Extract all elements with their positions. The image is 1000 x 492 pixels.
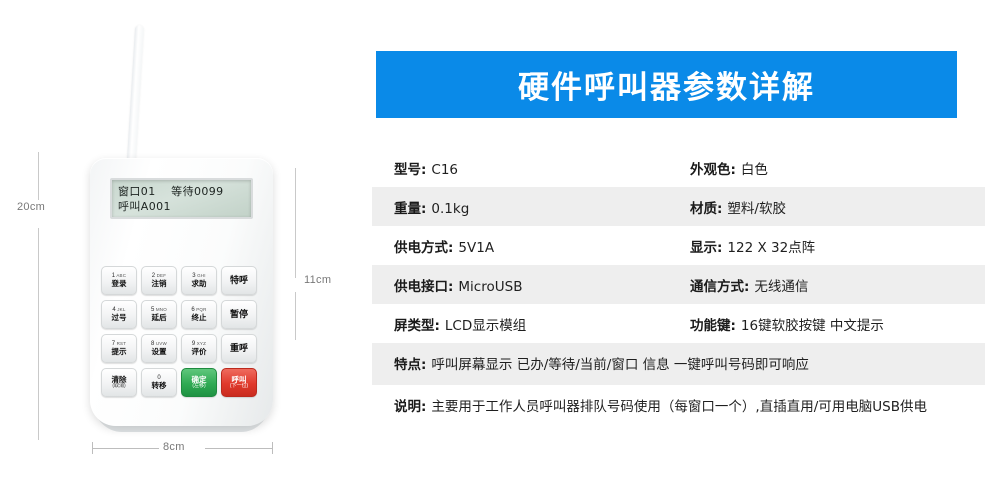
spec-key: 说明: [394,395,426,415]
key-label: 转移 [152,382,167,390]
key-label: 登录 [112,280,127,288]
spec-cell: 重量:0.1kg [372,187,682,226]
keypad-key-特呼[interactable]: 特呼 [221,266,257,295]
width-dimension-label: 8cm [159,440,189,454]
spec-value: 无线通信 [754,275,808,295]
spec-value: 白色 [741,158,768,178]
key-letters: JKL [116,307,126,312]
key-sublabel: (左移) [192,384,205,389]
keypad-key-重呼[interactable]: 重呼 [221,334,257,363]
spec-row: 屏类型:LCD显示模组功能键:16键软胶按键 中文提示 [372,304,985,343]
key-label: 特呼 [230,276,248,285]
product-image-panel: 20cm 11cm 8cm 窗口01 等待0099 呼叫A001 1 ABC登录… [0,0,360,492]
spec-cell: 屏类型:LCD显示模组 [372,304,682,343]
key-label: 设置 [152,348,167,356]
lcd-line-1: 窗口01 等待0099 [118,184,245,199]
key-letters: PQR [195,307,207,312]
spec-cell: 外观色:白色 [682,148,985,187]
keypad-key-评价[interactable]: 9 XYZ评价 [181,334,217,363]
keypad-key-转移[interactable]: 0转移 [141,368,177,397]
keypad-key-终止[interactable]: 6 PQR终止 [181,300,217,329]
spec-cell: 说明:主要用于工作人员呼叫器排队号码使用（每窗口一个）,直插直用/可用电脑USB… [372,385,985,427]
key-label: 过号 [112,314,127,322]
spec-cell: 通信方式:无线通信 [682,265,985,304]
height-dimension-label: 20cm [13,200,49,214]
spec-cell: 特点:呼叫屏幕显示 已办/等待/当前/窗口 信息 一键呼叫号码即可响应 [372,343,985,385]
keypad-key-提示[interactable]: 7 RST提示 [101,334,137,363]
key-letters: ABC [115,273,126,278]
spec-value: 塑料/软胶 [727,197,786,217]
key-label: 注销 [152,280,167,288]
height-dimension-line-bottom [38,228,39,440]
page-title: 硬件呼叫器参数详解 [518,62,815,107]
width-dimension-line-right [205,448,273,449]
spec-cell: 型号:C16 [372,148,682,187]
keypad-key-确定[interactable]: 确定(左移) [181,368,217,397]
key-letters: DEF [155,273,166,278]
width-dimension-cap-right [272,442,273,454]
key-letters: MNO [154,307,167,312]
keypad-key-呼叫[interactable]: 呼叫(下一位) [221,368,257,397]
key-label: 终止 [192,314,207,322]
spec-row: 供电接口:MicroUSB通信方式:无线通信 [372,265,985,304]
spec-row: 说明:主要用于工作人员呼叫器排队号码使用（每窗口一个）,直插直用/可用电脑USB… [372,385,985,427]
keypad-key-过号[interactable]: 4 JKL过号 [101,300,137,329]
spec-value: C16 [431,162,458,178]
antenna [126,25,144,175]
key-label: 重呼 [230,344,248,353]
spec-row: 重量:0.1kg材质:塑料/软胶 [372,187,985,226]
spec-value: 呼叫屏幕显示 已办/等待/当前/窗口 信息 一键呼叫号码即可响应 [431,355,809,376]
spec-cell: 材质:塑料/软胶 [682,187,985,226]
spec-key: 重量: [394,197,426,217]
spec-cell: 供电接口:MicroUSB [372,265,682,304]
spec-key: 材质: [690,197,722,217]
height-dimension-line-top [38,152,39,200]
spec-key: 屏类型: [394,314,440,334]
spec-key: 外观色: [690,158,736,178]
key-sublabel: (取消) [112,384,125,389]
keypad-key-登录[interactable]: 1 ABC登录 [101,266,137,295]
key-letters: UVW [154,341,167,346]
spec-value: 122 X 32点阵 [727,236,815,256]
spec-row: 特点:呼叫屏幕显示 已办/等待/当前/窗口 信息 一键呼叫号码即可响应 [372,343,985,385]
keypad-key-暂停[interactable]: 暂停 [221,300,257,329]
spec-value: 16键软胶按键 中文提示 [741,314,884,334]
spec-row: 型号:C16外观色:白色 [372,148,985,187]
key-letters: GHI [196,273,206,278]
spec-key: 供电方式: [394,236,453,256]
spec-key: 型号: [394,158,426,178]
spec-key: 通信方式: [690,275,749,295]
lcd-line-2: 呼叫A001 [118,199,245,214]
width-dimension-cap-left [92,442,93,454]
key-letters: XYZ [195,341,206,346]
spec-value: 5V1A [458,240,494,256]
keypad-key-清除[interactable]: 清除(取消) [101,368,137,397]
key-letters: RST [115,341,126,346]
spec-value: 主要用于工作人员呼叫器排队号码使用（每窗口一个）,直插直用/可用电脑USB供电 [431,397,927,418]
spec-cell: 功能键:16键软胶按键 中文提示 [682,304,985,343]
key-label: 求助 [192,280,207,288]
spec-table: 型号:C16外观色:白色重量:0.1kg材质:塑料/软胶供电方式:5V1A显示:… [372,148,985,427]
spec-key: 特点: [394,353,426,373]
keypad-key-设置[interactable]: 8 UVW设置 [141,334,177,363]
keypad-key-延后[interactable]: 5 MNO延后 [141,300,177,329]
width-dimension-line-left [92,448,160,449]
keypad-key-求助[interactable]: 3 GHI求助 [181,266,217,295]
depth-dimension-label: 11cm [300,273,335,287]
key-sublabel: (下一位) [230,384,248,389]
keypad: 1 ABC登录2 DEF注销3 GHI求助特呼4 JKL过号5 MNO延后6 P… [101,266,263,397]
spec-value: 0.1kg [431,201,469,217]
spec-cell: 供电方式:5V1A [372,226,682,265]
spec-cell: 显示:122 X 32点阵 [682,226,985,265]
key-label: 延后 [152,314,167,322]
spec-key: 显示: [690,236,722,256]
depth-dimension-line-top [295,168,296,278]
depth-dimension-line-bottom [295,292,296,340]
spec-value: MicroUSB [458,279,522,295]
key-label: 提示 [112,348,127,356]
lcd-display: 窗口01 等待0099 呼叫A001 [110,178,253,219]
keypad-key-注销[interactable]: 2 DEF注销 [141,266,177,295]
spec-key: 供电接口: [394,275,453,295]
spec-banner: 硬件呼叫器参数详解 [376,51,957,118]
key-label: 暂停 [230,310,248,319]
spec-key: 功能键: [690,314,736,334]
specification-panel: 硬件呼叫器参数详解 型号:C16外观色:白色重量:0.1kg材质:塑料/软胶供电… [360,0,1000,492]
spec-row: 供电方式:5V1A显示:122 X 32点阵 [372,226,985,265]
spec-value: LCD显示模组 [445,314,526,334]
key-label: 评价 [192,348,207,356]
